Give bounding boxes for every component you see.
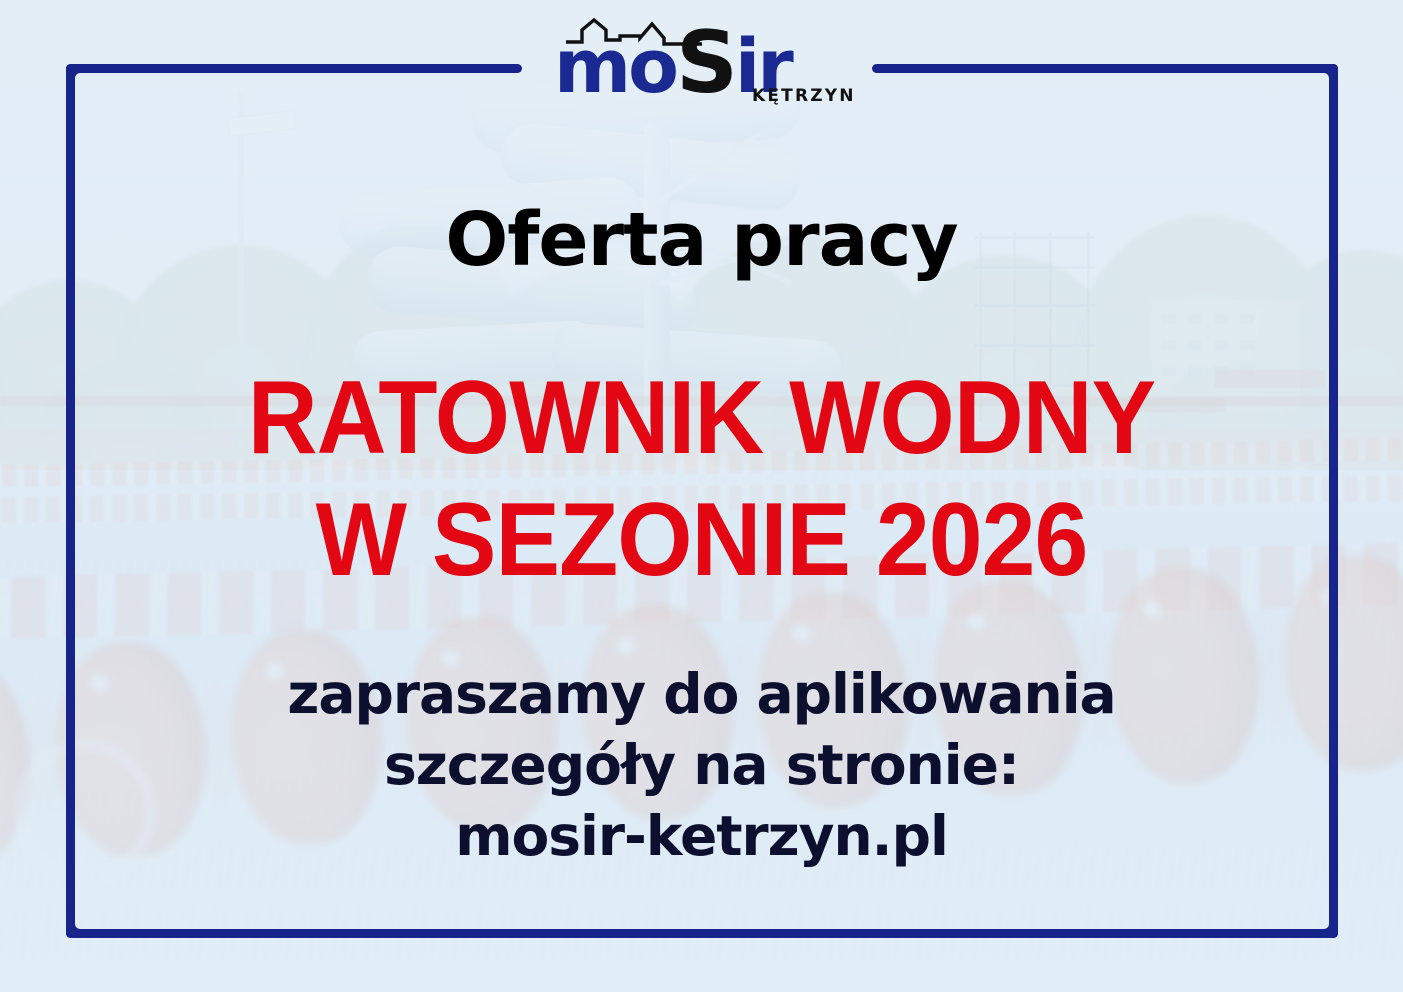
mosir-ketrzyn-logo: moSir KĘTRZYN: [540, 6, 870, 114]
frame-bottom-edge: [66, 929, 1338, 938]
cta-website-url[interactable]: mosir-ketrzyn.pl: [0, 801, 1403, 872]
logo-city-name: KĘTRZYN: [752, 86, 856, 106]
cta-line-1: zapraszamy do aplikowania: [0, 659, 1403, 730]
cta-line-2: szczegóły na stronie:: [0, 730, 1403, 801]
kicker-heading: Oferta pracy: [0, 199, 1403, 281]
main-headline: RATOWNIK WODNY W SEZONIE 2026: [49, 357, 1354, 601]
logo-mo: mo: [554, 24, 676, 110]
headline-line-2: W SEZONIE 2026: [49, 479, 1354, 601]
logo-s: S: [676, 13, 735, 113]
headline-line-1: RATOWNIK WODNY: [49, 357, 1354, 479]
job-offer-poster: moSir KĘTRZYN Oferta pracy RATOWNIK WODN…: [0, 0, 1403, 992]
frame-top-right-segment: [872, 64, 1338, 73]
frame-top-left-segment: [66, 64, 522, 73]
call-to-action: zapraszamy do aplikowania szczegóły na s…: [0, 659, 1403, 872]
frame-corner-top-left: [66, 64, 88, 86]
